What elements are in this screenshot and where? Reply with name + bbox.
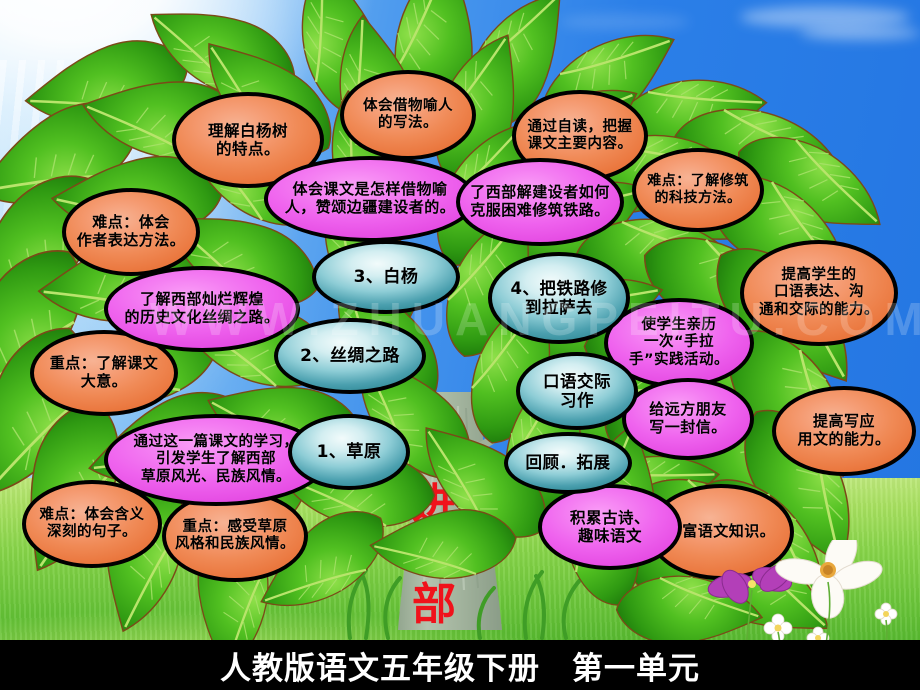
bubble-line: 一次“手拉 [614, 334, 744, 351]
bubble-lesson4[interactable]: 4、把铁路修到拉萨去 [488, 252, 630, 344]
bubble-line: 提高写应 [782, 413, 906, 431]
bubble-tigao-kouyu[interactable]: 提高学生的口语表达、沟通和交际的能力。 [740, 240, 898, 346]
bubble-lesson3[interactable]: 3、白杨 [312, 240, 460, 314]
bubble-line: 重点：了解课文 [40, 355, 168, 373]
bubble-line: 作者表达方法。 [72, 232, 190, 250]
bubble-line: 习作 [526, 391, 628, 410]
bubble-line: 重点：感受草原 [172, 519, 298, 536]
bubble-lesson1[interactable]: 1、草原 [288, 414, 410, 490]
bubble-jiewuyuren-xiefa[interactable]: 体会借物喻人的写法。 [340, 70, 476, 160]
bubble-line: 4、把铁路修 [498, 279, 620, 298]
bubble-line: 提高学生的 [750, 267, 888, 284]
bubble-line: 回顾．拓展 [514, 453, 622, 472]
bubble-line: 了解西部灿烂辉煌 [114, 291, 290, 309]
bubble-line: 2、丝绸之路 [284, 346, 416, 366]
bubble-line: 体会课文是怎样借物喻 [274, 181, 466, 199]
bubble-line: 风格和民族风情。 [172, 536, 298, 553]
bubble-line: 通过自读，把握 [522, 119, 638, 136]
bubble-jilei-gushi[interactable]: 积累古诗、趣味语文 [538, 484, 682, 570]
bubble-line: 难点：了解修筑 [642, 173, 754, 190]
bubble-line: 写一封信。 [632, 419, 744, 437]
bubble-line: 到拉萨去 [498, 298, 620, 317]
bubble-line: 口语表达、沟 [750, 284, 888, 301]
bubble-line: 给远方朋友 [632, 401, 744, 419]
bubble-line: 难点：体会含义 [32, 507, 152, 524]
bubble-line: 难点：体会 [72, 214, 190, 232]
slide-caption: 人教版语文五年级下册 第一单元 [0, 640, 920, 690]
bubble-line: 草原风光、民族风情。 [114, 469, 318, 486]
bubble-line: 克服困难修筑铁路。 [466, 202, 614, 220]
bubble-line: 深刻的句子。 [32, 524, 152, 541]
bubble-line: 的特点。 [182, 140, 314, 158]
bubble-kouyu-jiaoji[interactable]: 口语交际习作 [516, 352, 638, 430]
bubble-nandian-tihui[interactable]: 难点：体会作者表达方法。 [62, 188, 200, 276]
bubble-line: 用文的能力。 [782, 431, 906, 449]
bubble-line: 通和交际的能力。 [750, 302, 888, 319]
bubble-huigu-tuozhan[interactable]: 回顾．拓展 [504, 432, 632, 494]
bubble-line: 的科技方法。 [642, 190, 754, 207]
bubble-line: 1、草原 [298, 442, 400, 462]
bubble-line: 手”实践活动。 [614, 352, 744, 369]
bubble-line: 课文主要内容。 [522, 136, 638, 153]
bubble-line: 体会借物喻人 [350, 98, 466, 115]
bubble-line: 使学生亲历 [614, 317, 744, 334]
bubble-line: 积累古诗、 [548, 509, 672, 527]
bubble-nandian-xiuzhu[interactable]: 难点：了解修筑的科技方法。 [632, 148, 764, 232]
bubble-sichou-lishi[interactable]: 了解西部灿烂辉煌的历史文化丝绸之路。 [104, 266, 300, 352]
bubble-xibu-jianshezhe[interactable]: 了西部解建设者如何克服困难修筑铁路。 [456, 158, 624, 246]
bubble-line: 3、白杨 [322, 267, 450, 287]
bubble-line: 人，赞颂边疆建设者的。 [274, 199, 466, 217]
flower-cluster [700, 540, 920, 650]
bubble-line: 大意。 [40, 373, 168, 391]
bubble-line: 趣味语文 [548, 527, 672, 545]
bubble-geiyuanfang[interactable]: 给远方朋友写一封信。 [622, 378, 754, 460]
bubble-line: 的写法。 [350, 115, 466, 132]
bubble-line: 理解白杨树 [182, 122, 314, 140]
bubble-line: 了西部解建设者如何 [466, 184, 614, 202]
bubble-tihui-kewen[interactable]: 体会课文是怎样借物喻人，赞颂边疆建设者的。 [264, 156, 476, 242]
bubble-line: 口语交际 [526, 372, 628, 391]
bubble-lesson2[interactable]: 2、丝绸之路 [274, 318, 426, 394]
bubble-line: 的历史文化丝绸之路。 [114, 309, 290, 327]
slide-canvas: 走 进 西 部 [0, 0, 920, 690]
bubble-tigao-xieying[interactable]: 提高写应用文的能力。 [772, 386, 916, 476]
